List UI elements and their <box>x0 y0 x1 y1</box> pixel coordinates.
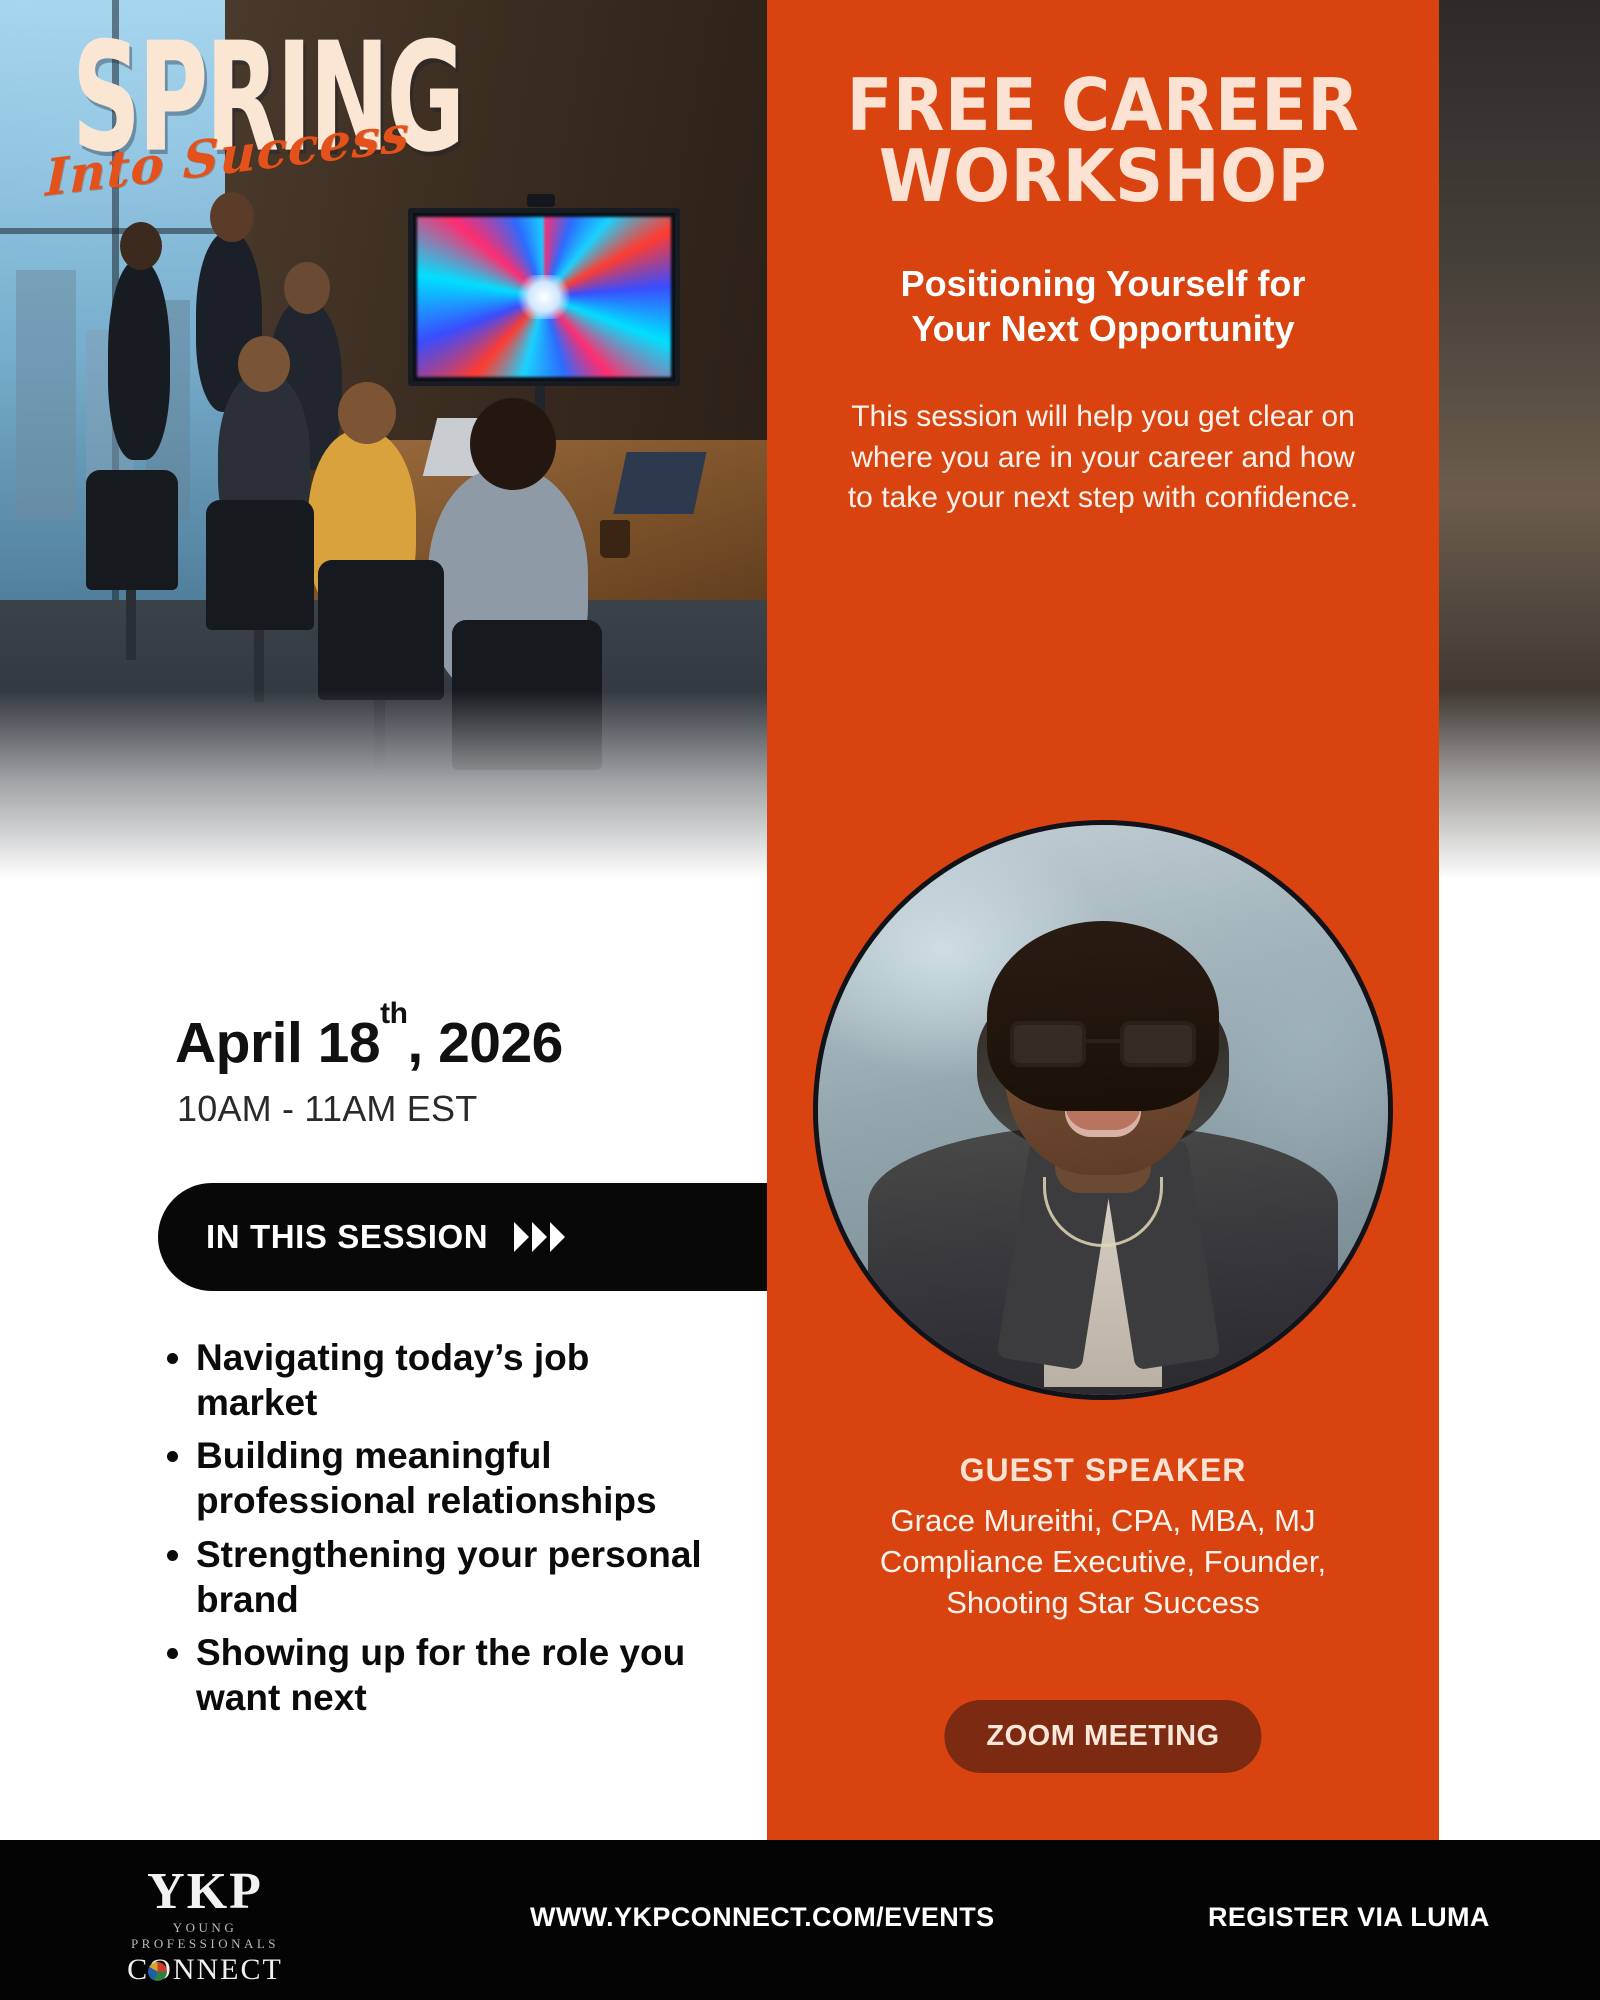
subtitle-line-1: Positioning Yourself for <box>819 261 1387 306</box>
event-date: April 18th, 2026 <box>175 1010 563 1076</box>
logo-connect-text: CONNECT <box>127 1953 283 1987</box>
in-this-session-label: IN THIS SESSION <box>206 1218 488 1256</box>
workshop-description: This session will help you get clear on … <box>819 397 1387 519</box>
headline-line-2: WORKSHOP <box>839 141 1367 212</box>
chair-leg <box>126 590 136 660</box>
speaker-credentials: Grace Mureithi, CPA, MBA, MJ Compliance … <box>767 1500 1439 1624</box>
office-photo-right <box>1430 0 1600 900</box>
portrait-hair <box>987 921 1219 1111</box>
register-callout[interactable]: REGISTER VIA LUMA <box>1208 1902 1490 1933</box>
speaker-portrait <box>813 820 1393 1400</box>
in-this-session-banner: IN THIS SESSION <box>158 1183 798 1291</box>
page-footer: YKP YOUNG PROFESSIONALS CONNECT WWW.YKPC… <box>0 1840 1600 2000</box>
glasses-icon <box>1010 1021 1196 1067</box>
workshop-subtitle: Positioning Yourself for Your Next Oppor… <box>819 261 1387 351</box>
chevron-right-icon <box>514 1222 565 1252</box>
event-time: 10AM - 11AM EST <box>177 1088 477 1130</box>
speaker-title: Compliance Executive, Founder, <box>813 1541 1393 1582</box>
screen-glow <box>514 275 574 319</box>
event-date-monthday: April 18 <box>175 1011 380 1075</box>
event-date-suffix: th <box>380 997 407 1030</box>
speaker-name: Grace Mureithi, CPA, MBA, MJ <box>813 1500 1393 1541</box>
glasses-lens <box>1120 1021 1196 1067</box>
event-date-year: , 2026 <box>407 1011 562 1075</box>
glasses-bridge <box>1086 1039 1120 1043</box>
office-chair <box>206 500 314 630</box>
attendee-head <box>120 222 162 270</box>
speaker-organization: Shooting Star Success <box>813 1582 1393 1623</box>
webcam-icon <box>527 194 555 207</box>
ykp-connect-logo: YKP YOUNG PROFESSIONALS CONNECT <box>100 1866 310 1976</box>
laptop <box>613 452 706 514</box>
office-chair <box>86 470 178 590</box>
event-details-panel: April 18th, 2026 10AM - 11AM EST IN THIS… <box>0 900 767 1840</box>
guest-speaker-label: GUEST SPEAKER <box>767 1452 1439 1489</box>
office-chair <box>318 560 444 700</box>
list-item: Strengthening your personal brand <box>196 1532 716 1622</box>
attendee-head <box>284 262 330 314</box>
zoom-meeting-button[interactable]: ZOOM MEETING <box>944 1700 1261 1773</box>
subtitle-line-2: Your Next Opportunity <box>819 306 1387 351</box>
list-item: Showing up for the role you want next <box>196 1630 716 1720</box>
presentation-screen <box>408 208 680 386</box>
spring-into-success-logo: SPRING Into Success <box>72 22 372 192</box>
page-title: FREE CAREER WORKSHOP <box>839 70 1367 211</box>
headline-line-1: FREE CAREER <box>839 70 1367 141</box>
chevron-right-icon <box>532 1222 547 1252</box>
office-chair <box>452 620 602 770</box>
attendee-head <box>238 336 290 392</box>
window-mullion <box>0 228 230 234</box>
chevron-right-icon <box>550 1222 565 1252</box>
session-topics-list: Navigating today’s job market Building m… <box>196 1335 716 1728</box>
attendee-head <box>210 192 254 242</box>
list-item: Building meaningful professional relatio… <box>196 1433 716 1523</box>
logo-tagline: YOUNG PROFESSIONALS <box>100 1920 310 1952</box>
chevron-right-icon <box>514 1222 529 1252</box>
attendee-head <box>470 398 556 490</box>
city-building <box>16 270 76 520</box>
website-url[interactable]: WWW.YKPCONNECT.COM/EVENTS <box>530 1902 995 1933</box>
chair-leg <box>374 700 385 770</box>
list-item: Navigating today’s job market <box>196 1335 716 1425</box>
chair-leg <box>254 630 264 702</box>
logo-ykp-text: YKP <box>100 1866 310 1918</box>
attendee-head <box>338 382 396 444</box>
standing-attendee <box>108 260 170 460</box>
coffee-cup <box>600 520 630 558</box>
workshop-info-panel: FREE CAREER WORKSHOP Positioning Yoursel… <box>767 0 1439 1840</box>
glasses-lens <box>1010 1021 1086 1067</box>
